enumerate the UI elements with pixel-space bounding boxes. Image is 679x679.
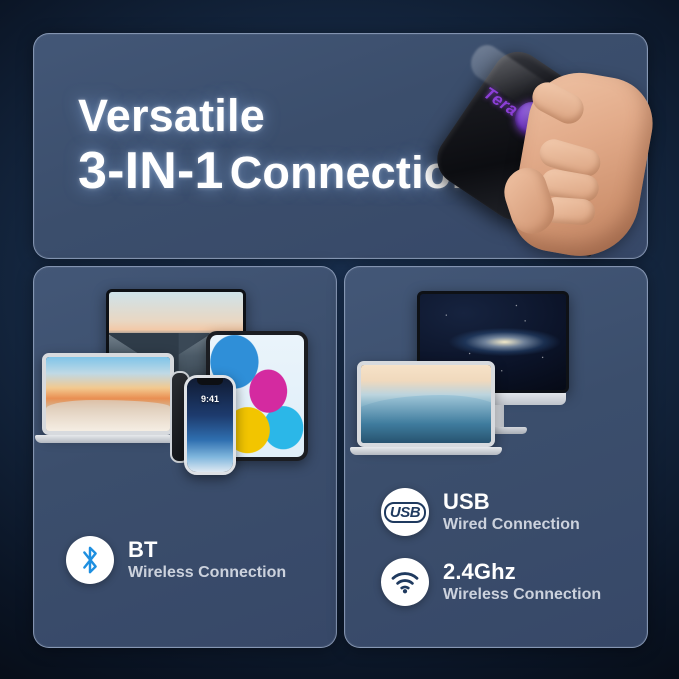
feature-title-bt: BT (128, 538, 286, 563)
headline-line-2: 3-IN-1Connection (78, 145, 479, 197)
wallpaper-blue-wave (361, 365, 491, 443)
feature-badge-usb: USB USB Wired Connection (381, 488, 580, 536)
phone-screen: 9:41 (184, 375, 236, 475)
phone-lock-time: 9:41 (187, 394, 233, 404)
phone-notch (197, 378, 223, 385)
feature-text-usb: USB Wired Connection (443, 490, 580, 535)
feature-subtitle-bt: Wireless Connection (128, 564, 286, 582)
wallpaper-lock-screen (187, 378, 233, 472)
feature-text-bt: BT Wireless Connection (128, 538, 286, 583)
headline-emphasis: 3-IN-1 (78, 142, 224, 200)
page-title: Versatile 3-IN-1Connection (78, 93, 479, 197)
laptop-screen (42, 353, 174, 435)
laptop-base-2 (350, 447, 502, 455)
feature-title-usb: USB (443, 490, 580, 515)
device-laptop (42, 353, 174, 443)
infographic-canvas: Versatile 3-IN-1Connection Tera (0, 0, 679, 679)
feature-badge-wifi: 2.4Ghz Wireless Connection (381, 558, 601, 606)
feature-subtitle-wifi: Wireless Connection (443, 586, 601, 604)
wifi-icon (381, 558, 429, 606)
headline-line-1: Versatile (78, 93, 479, 138)
usb-glyph-text: USB (384, 502, 426, 523)
wallpaper-beach-sunset (46, 357, 170, 431)
panel-bluetooth: 9:41 (33, 266, 337, 648)
device-laptop-2 (357, 361, 495, 455)
feature-title-wifi: 2.4Ghz (443, 560, 601, 585)
device-smartphone: 9:41 (184, 375, 236, 475)
laptop-base (35, 435, 181, 443)
feature-text-wifi: 2.4Ghz Wireless Connection (443, 560, 601, 605)
bluetooth-icon (66, 536, 114, 584)
feature-subtitle-usb: Wired Connection (443, 516, 580, 534)
laptop-screen-2 (357, 361, 495, 447)
product-image-scanner-in-hand: Tera (447, 48, 655, 262)
usb-icon: USB (381, 488, 429, 536)
feature-badge-bt: BT Wireless Connection (66, 536, 286, 584)
